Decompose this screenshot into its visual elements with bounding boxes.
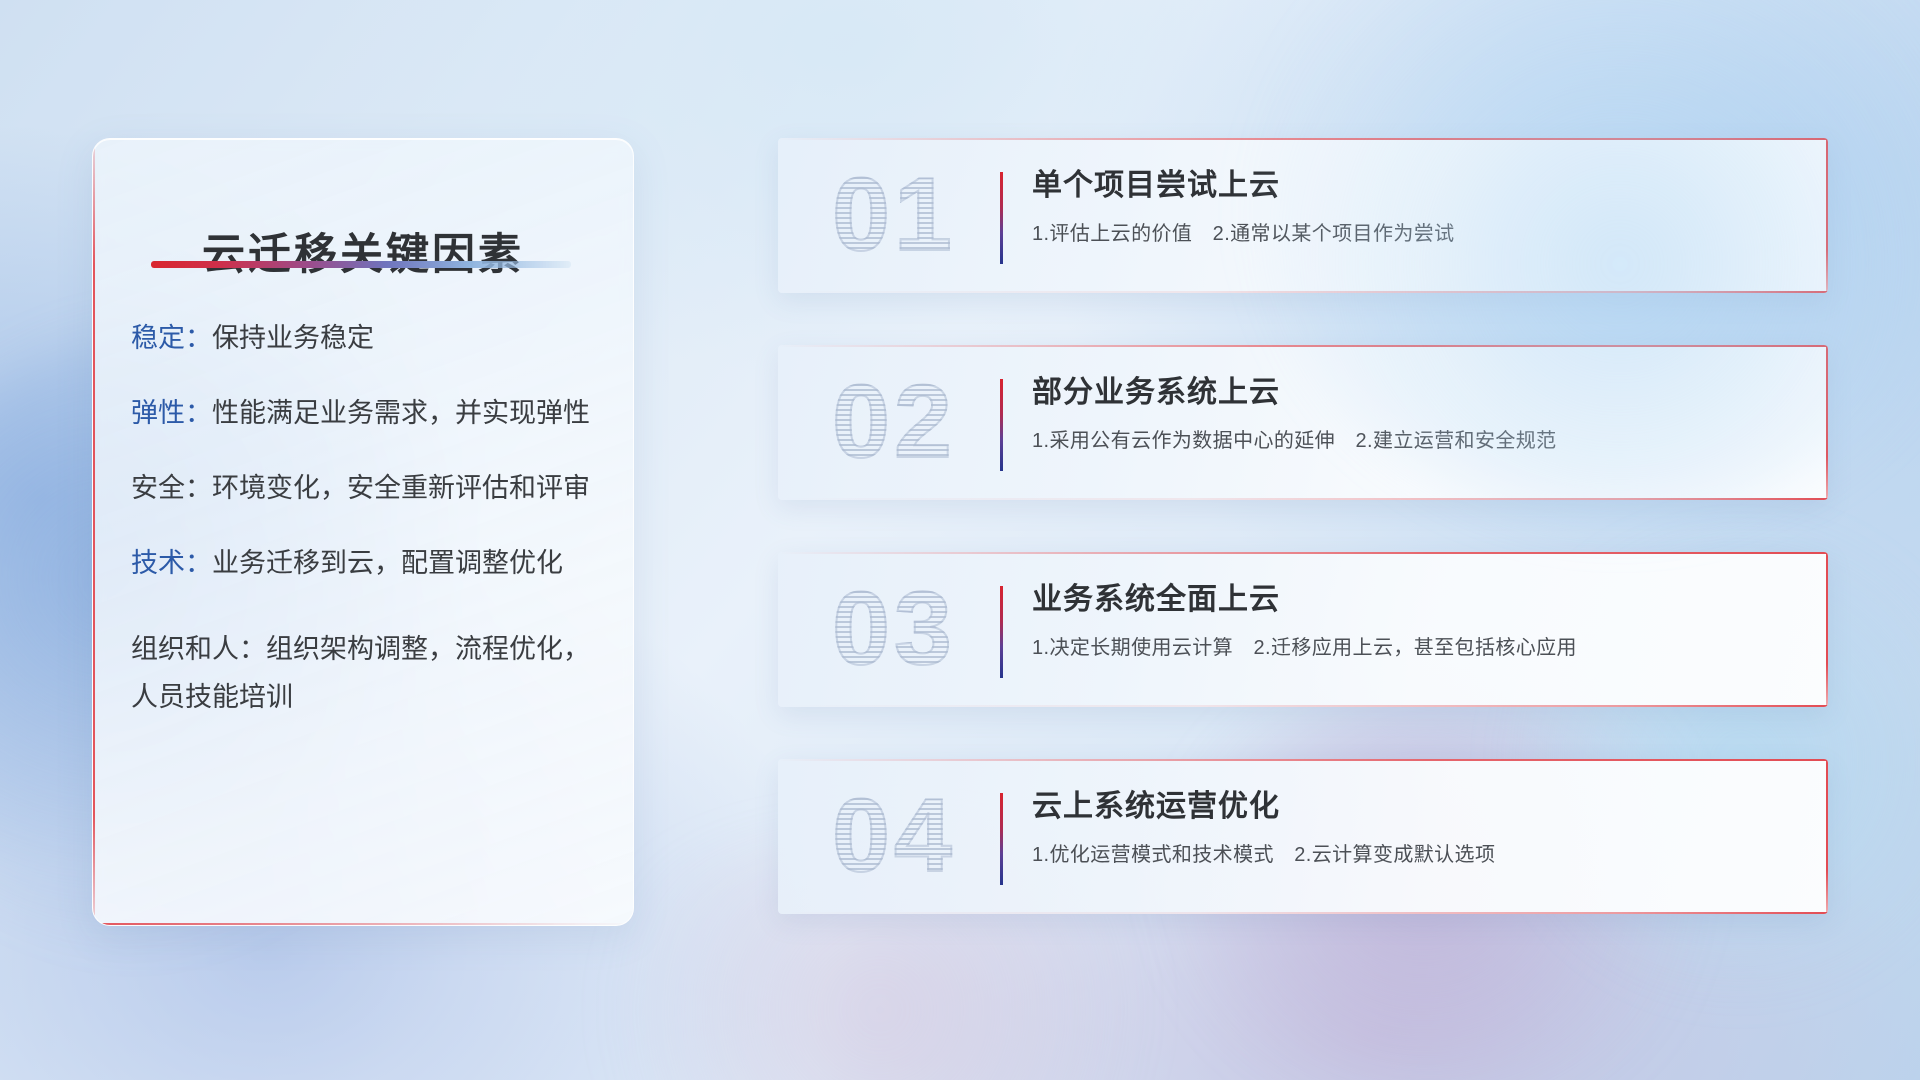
- step-title: 云上系统运营优化: [1032, 789, 1798, 826]
- factor-label: 安全：: [131, 473, 212, 503]
- step-number-watermark: 02: [804, 363, 984, 481]
- card-bottom-accent: [778, 912, 1828, 914]
- step-number-watermark: 04: [804, 777, 984, 895]
- card-bottom-accent: [778, 498, 1828, 500]
- card-top-accent: [778, 138, 1828, 140]
- card-right-accent: [1826, 552, 1828, 707]
- factor-label: 组织和人：: [131, 634, 266, 664]
- card-top-accent: [778, 552, 1828, 554]
- step-divider-bar: [1000, 379, 1003, 471]
- list-item: 弹性：性能满足业务需求，并实现弹性: [131, 400, 607, 427]
- key-factors-panel: 云迁移关键因素 稳定：保持业务稳定 弹性：性能满足业务需求，并实现弹性 安全：环…: [92, 138, 634, 926]
- step-body: 单个项目尝试上云 1.评估上云的价值 2.通常以某个项目作为尝试: [1032, 168, 1798, 247]
- step-description: 1.决定长期使用云计算 2.迁移应用上云，甚至包括核心应用: [1032, 635, 1798, 661]
- step-divider-bar: [1000, 793, 1003, 885]
- factor-text: 性能满足业务需求，并实现弹性: [212, 398, 590, 428]
- step-title: 业务系统全面上云: [1032, 582, 1798, 619]
- list-item: 组织和人：组织架构调整，流程优化，人员技能培训: [131, 625, 607, 721]
- card-top-accent: [778, 759, 1828, 761]
- migration-steps-list: 01 单个项目尝试上云 1.评估上云的价值 2.通常以某个项目作为尝试 02 部…: [778, 138, 1828, 966]
- factor-label: 稳定：: [131, 323, 212, 353]
- step-number-watermark: 01: [804, 156, 984, 274]
- step-card-01[interactable]: 01 单个项目尝试上云 1.评估上云的价值 2.通常以某个项目作为尝试: [778, 138, 1828, 293]
- panel-bottom-accent-bar: [93, 923, 633, 925]
- step-card-03[interactable]: 03 业务系统全面上云 1.决定长期使用云计算 2.迁移应用上云，甚至包括核心应…: [778, 552, 1828, 707]
- card-right-accent: [1826, 138, 1828, 293]
- title-underline-gradient: [151, 261, 571, 268]
- step-body: 部分业务系统上云 1.采用公有云作为数据中心的延伸 2.建立运营和安全规范: [1032, 375, 1798, 454]
- factor-text: 保持业务稳定: [212, 323, 374, 353]
- list-item: 安全：环境变化，安全重新评估和评审: [131, 475, 607, 502]
- list-item: 技术：业务迁移到云，配置调整优化: [131, 550, 607, 577]
- factor-text: 环境变化，安全重新评估和评审: [212, 473, 590, 503]
- factor-label: 弹性：: [131, 398, 212, 428]
- step-description: 1.优化运营模式和技术模式 2.云计算变成默认选项: [1032, 842, 1798, 868]
- card-right-accent: [1826, 345, 1828, 500]
- card-right-accent: [1826, 759, 1828, 914]
- step-card-02[interactable]: 02 部分业务系统上云 1.采用公有云作为数据中心的延伸 2.建立运营和安全规范: [778, 345, 1828, 500]
- card-bottom-accent: [778, 705, 1828, 707]
- factor-text: 业务迁移到云，配置调整优化: [212, 548, 563, 578]
- slide-canvas: 云迁移关键因素 稳定：保持业务稳定 弹性：性能满足业务需求，并实现弹性 安全：环…: [0, 0, 1920, 1080]
- step-divider-bar: [1000, 586, 1003, 678]
- step-description: 1.评估上云的价值 2.通常以某个项目作为尝试: [1032, 221, 1798, 247]
- step-divider-bar: [1000, 172, 1003, 264]
- card-top-accent: [778, 345, 1828, 347]
- step-description: 1.采用公有云作为数据中心的延伸 2.建立运营和安全规范: [1032, 428, 1798, 454]
- key-factors-list: 稳定：保持业务稳定 弹性：性能满足业务需求，并实现弹性 安全：环境变化，安全重新…: [131, 325, 607, 769]
- factor-label: 技术：: [131, 548, 212, 578]
- step-title: 部分业务系统上云: [1032, 375, 1798, 412]
- list-item: 稳定：保持业务稳定: [131, 325, 607, 352]
- step-title: 单个项目尝试上云: [1032, 168, 1798, 205]
- step-card-04[interactable]: 04 云上系统运营优化 1.优化运营模式和技术模式 2.云计算变成默认选项: [778, 759, 1828, 914]
- step-body: 云上系统运营优化 1.优化运营模式和技术模式 2.云计算变成默认选项: [1032, 789, 1798, 868]
- page-title: 云迁移关键因素: [93, 220, 633, 282]
- step-number-watermark: 03: [804, 570, 984, 688]
- card-bottom-accent: [778, 291, 1828, 293]
- step-body: 业务系统全面上云 1.决定长期使用云计算 2.迁移应用上云，甚至包括核心应用: [1032, 582, 1798, 661]
